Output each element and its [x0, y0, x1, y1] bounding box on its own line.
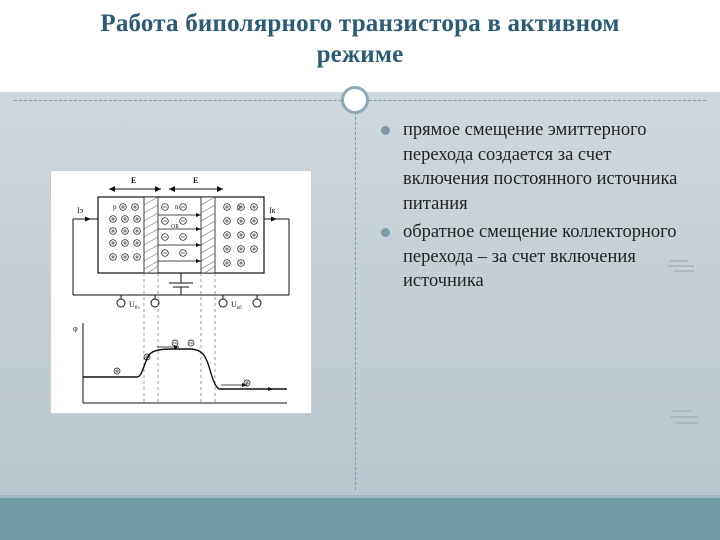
- bullet-text: прямое смещение эмиттерного перехода соз…: [403, 120, 677, 214]
- svg-text:n: n: [175, 203, 179, 211]
- svg-text:φ: φ: [73, 324, 78, 333]
- vertical-divider: [355, 112, 356, 490]
- svg-text:Iэ: Iэ: [77, 206, 84, 215]
- page-title: Работа биполярного транзистора в активно…: [60, 8, 660, 70]
- artifact-smudge-lower: [670, 408, 704, 426]
- decorative-ring: [341, 86, 369, 114]
- svg-text:p: p: [113, 203, 117, 211]
- svg-text:E: E: [131, 176, 136, 185]
- list-item: прямое смещение эмиттерного перехода соз…: [381, 118, 699, 216]
- slide: Работа биполярного транзистора в активно…: [0, 0, 720, 540]
- bullet-text: обратное смещение коллекторного перехода…: [403, 222, 677, 291]
- bottom-bar: [0, 498, 720, 540]
- svg-text:Iк: Iк: [269, 206, 276, 215]
- svg-text:ОБ: ОБ: [171, 224, 179, 230]
- bullet-dot-icon: [381, 126, 390, 135]
- list-item: обратное смещение коллекторного перехода…: [381, 220, 699, 294]
- artifact-smudge-upper: [668, 258, 700, 274]
- transistor-diagram: E E: [50, 170, 312, 414]
- bullet-list: прямое смещение эмиттерного перехода соз…: [381, 118, 699, 298]
- svg-text:E: E: [193, 176, 198, 185]
- transistor-diagram-svg: E E: [51, 171, 311, 413]
- bullet-dot-icon: [381, 228, 390, 237]
